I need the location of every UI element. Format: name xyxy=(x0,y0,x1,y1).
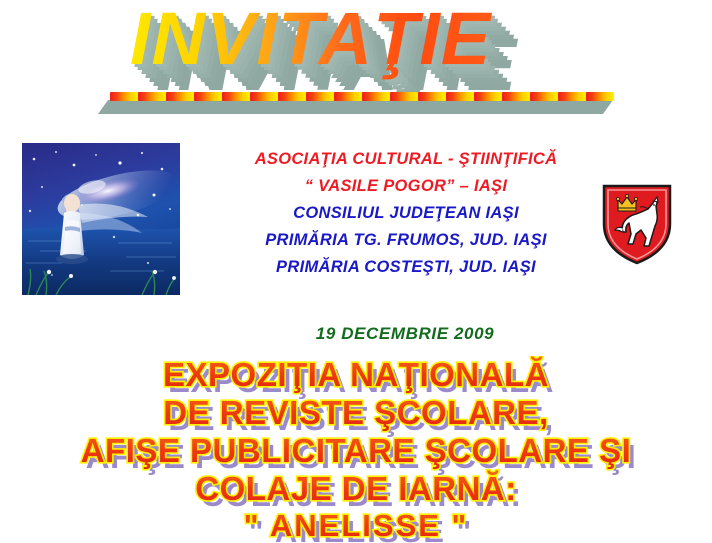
organizer-line-1: ASOCIAŢIA CULTURAL - ŞTIINŢIFICĂ xyxy=(196,146,616,173)
dashed-rainbow-rule xyxy=(0,86,712,120)
exhibition-headline-wordart: EXPOZIŢIA NAŢIONALĂ EXPOZIŢIA NAŢIONALĂ … xyxy=(0,356,712,543)
organizer-line-3: CONSILIUL JUDEŢEAN IAŞI xyxy=(196,200,616,227)
rule-shadow-layer xyxy=(98,100,613,114)
organizers-block: ASOCIAŢIA CULTURAL - ŞTIINŢIFICĂ “ VASIL… xyxy=(196,146,616,281)
headline-line-5: " ANELISSE " " ANELISSE " xyxy=(244,508,474,543)
invitation-title-wordart: INVITAŢIE INVITAŢIE INVITAŢIE INVITAŢIE … xyxy=(0,2,712,94)
organizer-line-5: PRIMĂRIA COSTEŞTI, JUD. IAŞI xyxy=(196,254,616,281)
svg-text:EXPOZIŢIA NAŢIONALĂ: EXPOZIŢIA NAŢIONALĂ xyxy=(163,356,549,393)
event-date: 19 DECEMBRIE 2009 xyxy=(0,324,712,344)
iasi-coat-of-arms-icon xyxy=(600,182,674,266)
svg-text:DE REVISTE ŞCOLARE,: DE REVISTE ŞCOLARE, xyxy=(163,394,548,431)
organizer-line-2: “ VASILE POGOR” – IAŞI xyxy=(196,173,616,200)
headline-line-1: EXPOZIŢIA NAŢIONALĂ EXPOZIŢIA NAŢIONALĂ xyxy=(163,356,554,399)
organizer-line-4: PRIMĂRIA TG. FRUMOS, JUD. IAŞI xyxy=(196,227,616,254)
svg-text:AFIŞE PUBLICITARE ŞCOLARE ŞI: AFIŞE PUBLICITARE ŞCOLARE ŞI xyxy=(81,432,632,469)
svg-text:COLAJE DE IARNĂ:: COLAJE DE IARNĂ: xyxy=(195,470,517,507)
fantasy-girl-illustration xyxy=(22,143,180,295)
title-face: INVITAŢIE xyxy=(130,2,493,80)
svg-text:" ANELISSE ": " ANELISSE " xyxy=(244,508,469,543)
headline-line-3: AFIŞE PUBLICITARE ŞCOLARE ŞI AFIŞE PUBLI… xyxy=(81,432,637,475)
headline-line-4: COLAJE DE IARNĂ: COLAJE DE IARNĂ: xyxy=(195,470,522,513)
headline-line-2: DE REVISTE ŞCOLARE, DE REVISTE ŞCOLARE, xyxy=(163,394,553,437)
rule-dash-layer xyxy=(110,92,614,101)
invitation-poster: INVITAŢIE INVITAŢIE INVITAŢIE INVITAŢIE … xyxy=(0,0,712,543)
